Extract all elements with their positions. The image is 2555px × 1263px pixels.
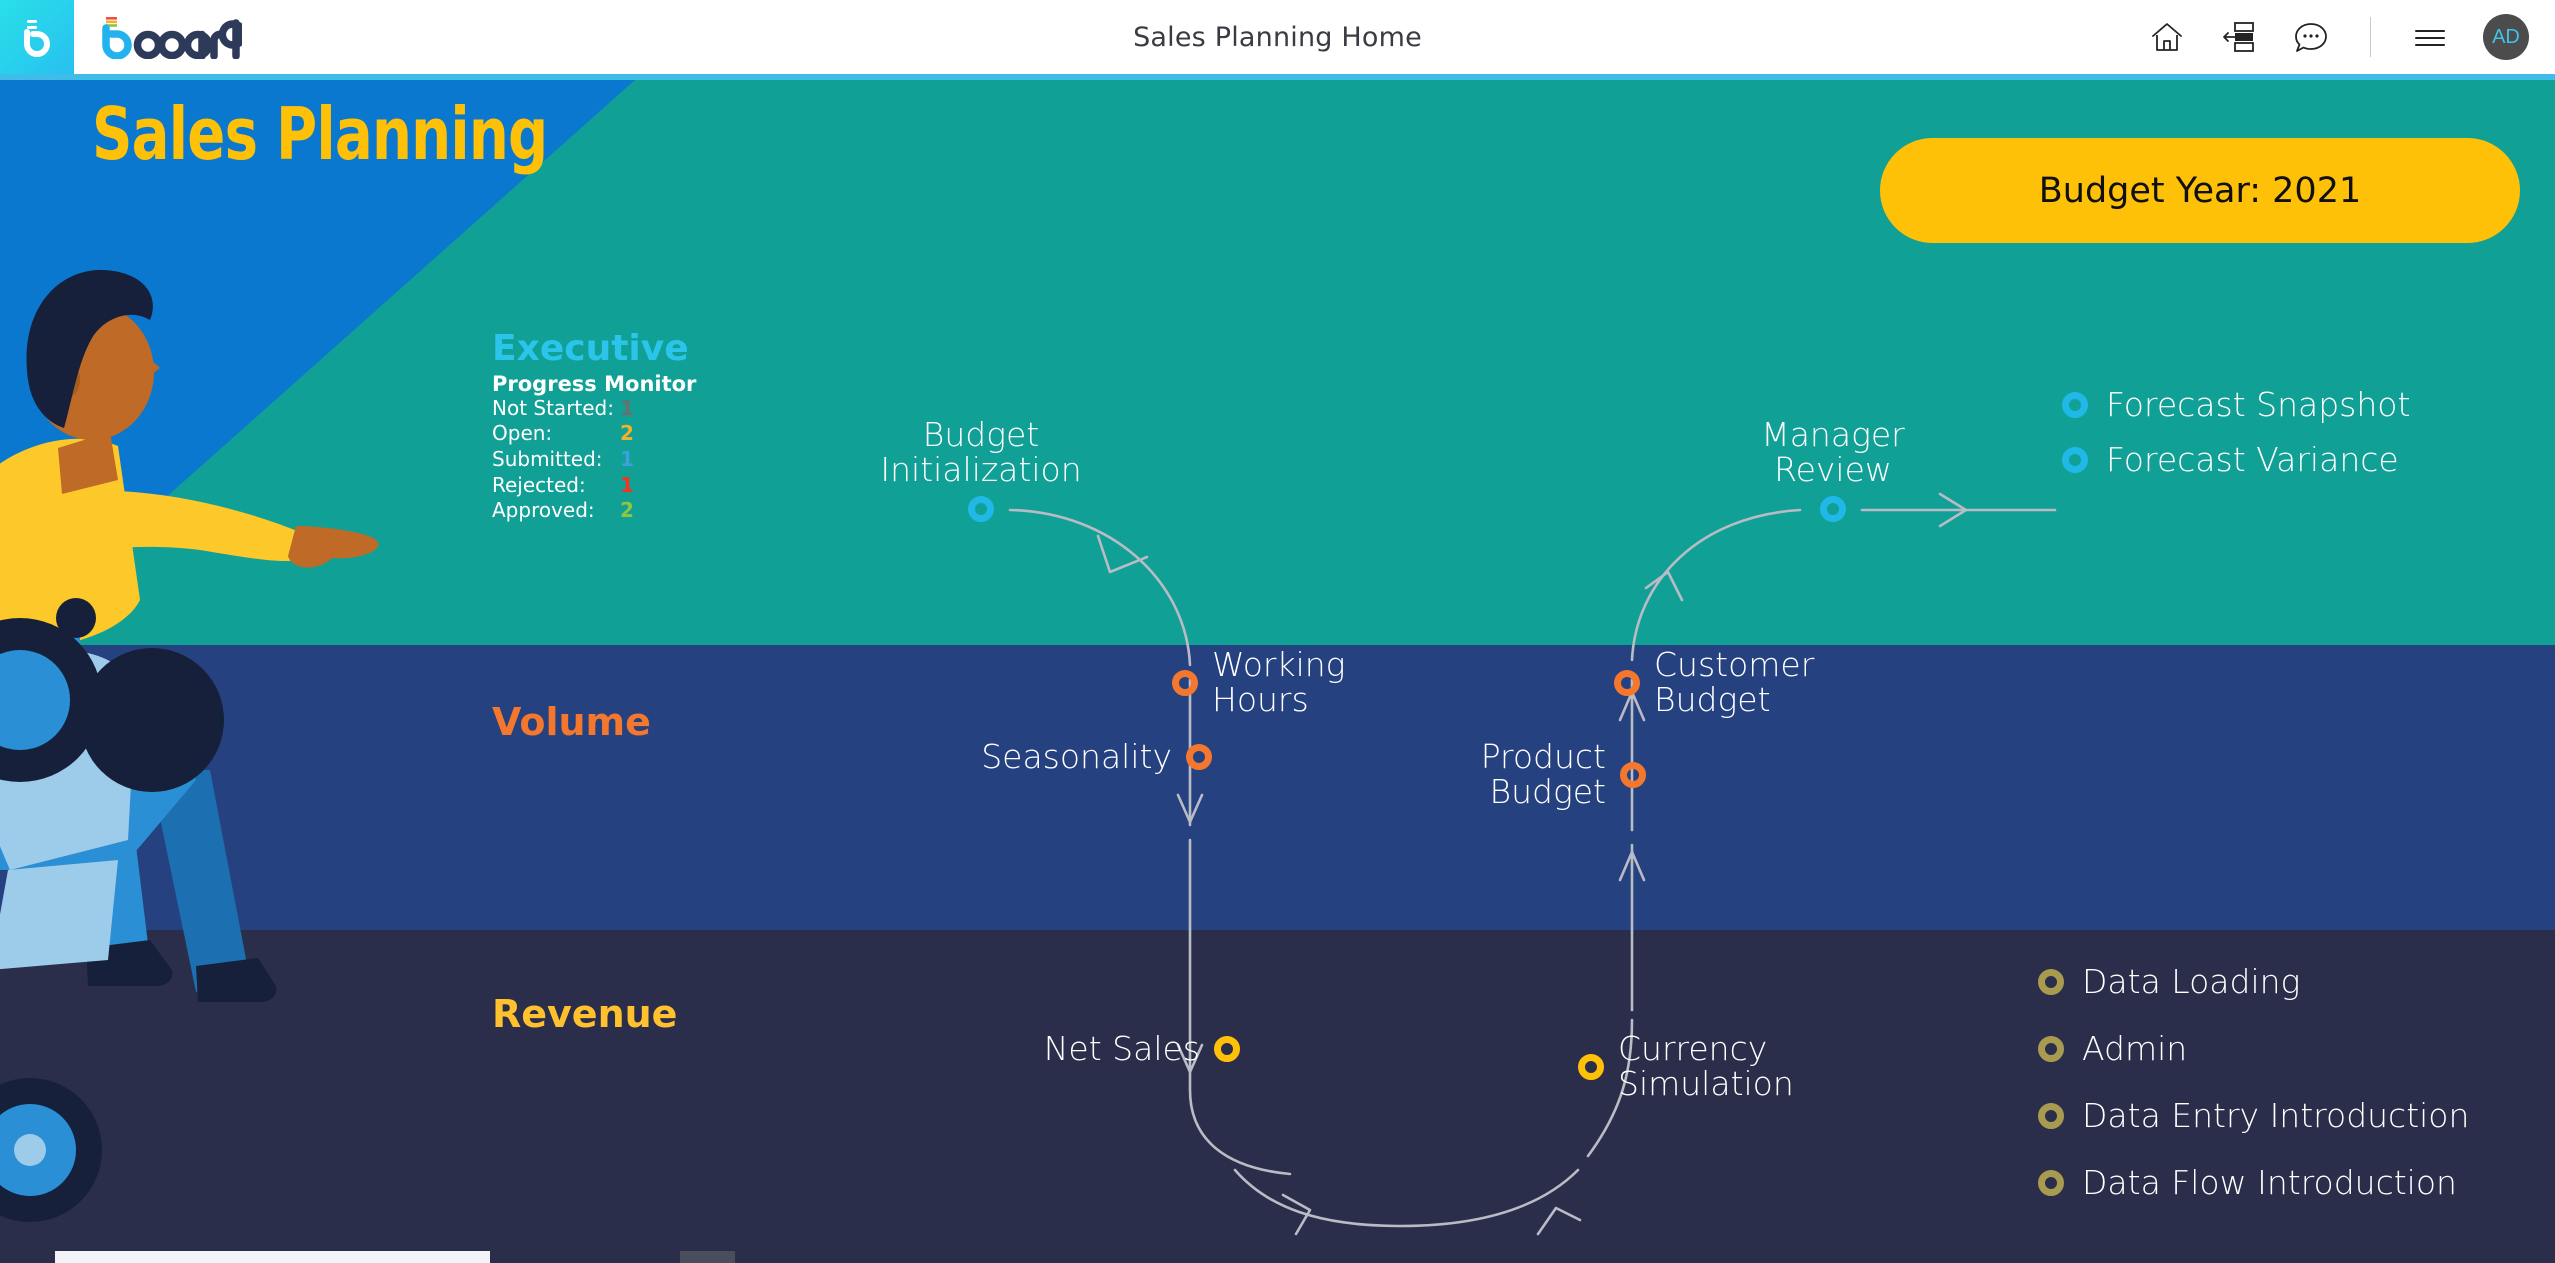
board-wordmark-icon xyxy=(102,15,242,59)
node-label: Customer Budget xyxy=(1654,648,1814,718)
node-label: Budget Initialization xyxy=(880,418,1081,488)
application-top-bar: Sales Planning Home xyxy=(0,0,2555,74)
progress-row-submitted: Submitted: 1 xyxy=(492,447,792,473)
toolbar-divider xyxy=(2370,17,2371,57)
hamburger-menu-icon[interactable] xyxy=(2411,18,2449,56)
progress-row-open: Open: 2 xyxy=(492,421,792,447)
scrollbar-thumb[interactable] xyxy=(55,1251,490,1263)
brand-wordmark[interactable] xyxy=(102,15,242,59)
node-ring-icon xyxy=(1186,744,1212,770)
node-ring-icon xyxy=(2038,969,2064,995)
link-data-entry-introduction[interactable]: Data Entry Introduction xyxy=(2038,1096,2469,1135)
node-label: Manager Review xyxy=(1761,418,1905,488)
horizontal-scrollbar[interactable] xyxy=(0,1249,2555,1263)
node-label: Product Budget xyxy=(1481,740,1606,810)
layout-icon[interactable] xyxy=(2220,18,2258,56)
board-b-logo-icon xyxy=(20,17,54,57)
node-ring-icon xyxy=(1614,670,1640,696)
node-label: Net Sales xyxy=(1044,1032,1200,1067)
node-ring-icon xyxy=(1820,496,1846,522)
progress-label: Submitted: xyxy=(492,447,620,473)
node-manager-review[interactable]: Manager Review xyxy=(1820,496,1846,522)
board-logo-tile[interactable] xyxy=(0,0,74,74)
progress-label: Approved: xyxy=(492,498,620,524)
executive-progress-monitor: Executive Progress Monitor Not Started: … xyxy=(492,330,792,524)
node-seasonality[interactable]: Seasonality xyxy=(966,740,1212,775)
node-net-sales[interactable]: Net Sales xyxy=(1010,1032,1240,1067)
top-bar-actions: AD xyxy=(2148,0,2529,74)
progress-row-approved: Approved: 2 xyxy=(492,498,792,524)
node-ring-icon xyxy=(2038,1036,2064,1062)
node-label: Seasonality xyxy=(981,740,1172,775)
progress-label: Rejected: xyxy=(492,473,620,499)
progress-value: 1 xyxy=(620,396,634,422)
utility-link-list: Data Loading Admin Data Entry Introducti… xyxy=(2038,962,2469,1230)
link-data-loading[interactable]: Data Loading xyxy=(2038,962,2469,1001)
band-label-volume: Volume xyxy=(492,700,651,744)
node-customer-budget[interactable]: Customer Budget xyxy=(1614,648,1814,718)
node-ring-icon xyxy=(2038,1170,2064,1196)
link-label: Data Loading xyxy=(2082,962,2300,1001)
node-product-budget[interactable]: Product Budget xyxy=(1400,740,1646,810)
scrollbar-mark xyxy=(680,1251,735,1263)
progress-value: 1 xyxy=(620,473,634,499)
link-label: Admin xyxy=(2082,1029,2187,1068)
link-label: Data Entry Introduction xyxy=(2082,1096,2469,1135)
progress-monitor-subheading: Progress Monitor xyxy=(492,372,792,396)
hero-title: Sales Planning xyxy=(92,92,547,176)
link-label: Data Flow Introduction xyxy=(2082,1163,2457,1202)
home-icon[interactable] xyxy=(2148,18,2186,56)
node-currency-simulation[interactable]: Currency Simulation xyxy=(1578,1032,1794,1102)
node-ring-icon xyxy=(2062,392,2088,418)
node-budget-initialization[interactable]: Budget Initialization xyxy=(968,496,994,522)
link-forecast-variance[interactable]: Forecast Variance xyxy=(2062,440,2410,479)
budget-year-button[interactable]: Budget Year: 2021 xyxy=(1880,138,2520,243)
node-ring-icon xyxy=(968,496,994,522)
node-ring-icon xyxy=(1578,1054,1604,1080)
node-ring-icon xyxy=(1620,762,1646,788)
node-label: Currency Simulation xyxy=(1618,1032,1794,1102)
progress-value: 2 xyxy=(620,421,634,447)
progress-label: Not Started: xyxy=(492,396,620,422)
node-ring-icon xyxy=(1172,670,1198,696)
progress-row-not-started: Not Started: 1 xyxy=(492,396,792,422)
progress-value: 2 xyxy=(620,498,634,524)
progress-row-rejected: Rejected: 1 xyxy=(492,473,792,499)
avatar[interactable]: AD xyxy=(2483,14,2529,60)
link-label: Forecast Variance xyxy=(2106,440,2399,479)
progress-value: 1 xyxy=(620,447,634,473)
link-admin[interactable]: Admin xyxy=(2038,1029,2469,1068)
link-label: Forecast Snapshot xyxy=(2106,385,2410,424)
band-label-revenue: Revenue xyxy=(492,992,677,1036)
node-ring-icon xyxy=(2038,1103,2064,1129)
node-ring-icon xyxy=(1214,1036,1240,1062)
node-working-hours[interactable]: Working Hours xyxy=(1172,648,1345,718)
progress-label: Open: xyxy=(492,421,620,447)
link-data-flow-introduction[interactable]: Data Flow Introduction xyxy=(2038,1163,2469,1202)
accent-rule xyxy=(0,74,2555,80)
comment-icon[interactable] xyxy=(2292,18,2330,56)
avatar-initials: AD xyxy=(2492,26,2520,49)
node-label: Working Hours xyxy=(1212,648,1345,718)
node-ring-icon xyxy=(2062,447,2088,473)
forecast-link-list: Forecast Snapshot Forecast Variance xyxy=(2062,385,2410,495)
executive-heading: Executive xyxy=(492,330,792,368)
link-forecast-snapshot[interactable]: Forecast Snapshot xyxy=(2062,385,2410,424)
